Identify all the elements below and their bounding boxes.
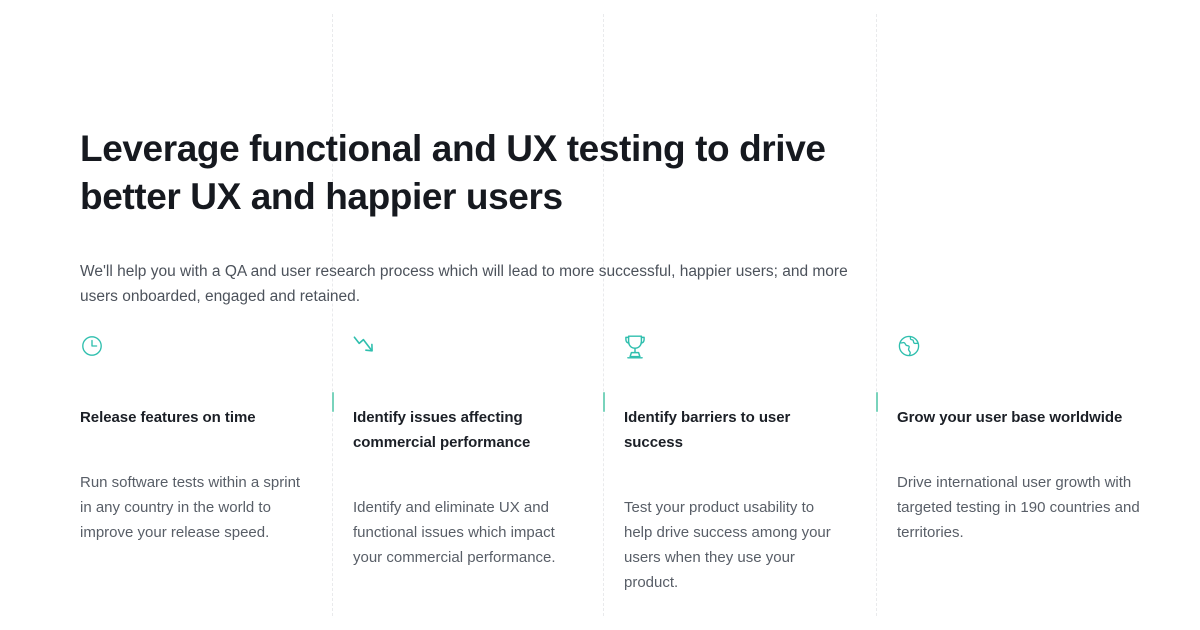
feature-card-grow-user-base: Grow your user base worldwide Drive inte…: [876, 334, 1200, 610]
page-subtitle: We'll help you with a QA and user resear…: [80, 259, 855, 309]
feature-body: Test your product usability to help driv…: [624, 495, 846, 595]
feature-title: Identify issues affecting commercial per…: [353, 405, 573, 455]
page-title: Leverage functional and UX testing to dr…: [80, 125, 870, 221]
feature-heading-row: Grow your user base worldwide: [876, 390, 1170, 445]
feature-title: Release features on time: [80, 405, 256, 430]
feature-card-release-features: Release features on time Run software te…: [0, 334, 332, 610]
clock-icon: [80, 334, 302, 364]
feature-title: Grow your user base worldwide: [897, 405, 1122, 430]
feature-columns: Release features on time Run software te…: [0, 334, 1200, 610]
accent-bar: [332, 392, 334, 412]
globe-icon: [897, 334, 1170, 364]
accent-bar: [876, 392, 878, 412]
trophy-icon: [624, 334, 846, 364]
feature-body: Identify and eliminate UX and functional…: [353, 495, 573, 570]
accent-bar: [603, 392, 605, 412]
feature-heading-row: Identify issues affecting commercial per…: [332, 390, 573, 470]
feature-body: Run software tests within a sprint in an…: [80, 470, 302, 545]
marketing-hero-section: Leverage functional and UX testing to dr…: [0, 0, 1200, 630]
trend-down-icon: [353, 334, 573, 364]
feature-title: Identify barriers to user success: [624, 405, 846, 455]
feature-card-identify-issues: Identify issues affecting commercial per…: [332, 334, 603, 610]
feature-body: Drive international user growth with tar…: [897, 470, 1170, 545]
feature-heading-row: Release features on time: [80, 390, 302, 445]
feature-card-identify-barriers: Identify barriers to user success Test y…: [603, 334, 876, 610]
feature-heading-row: Identify barriers to user success: [603, 390, 846, 470]
